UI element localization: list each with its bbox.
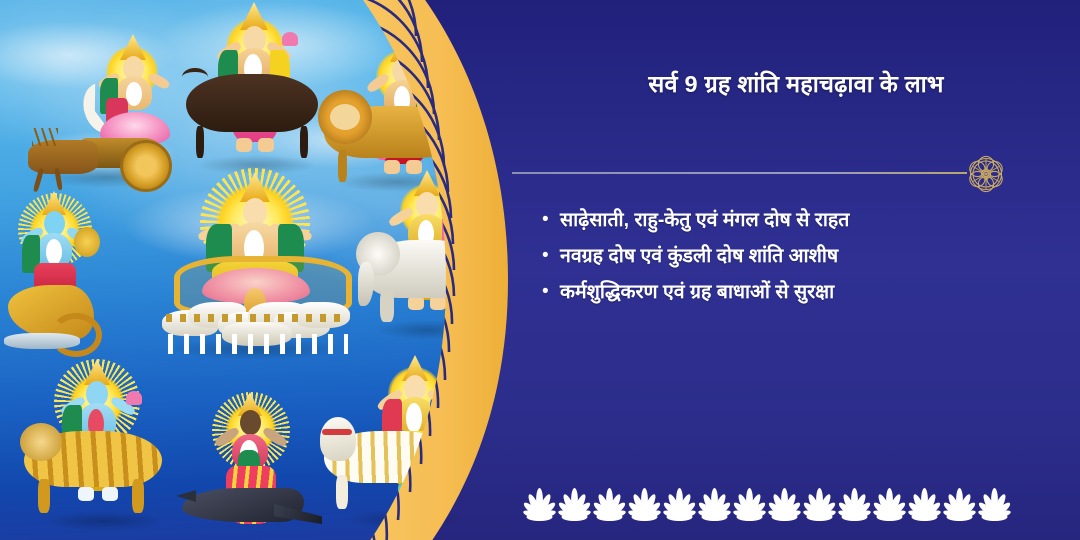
lotus-motif-icon [522,487,557,521]
figure-shadow [376,320,480,340]
deity-shukra-venus-on-horse [320,355,480,530]
deity-foot [398,483,414,497]
elephant-trunk [358,262,374,306]
benefit-text: साढ़ेसाती, राहु-केतु एवं मंगल दोष से राह… [560,205,849,235]
list-item: • नवग्रह दोष एवं कुंडली दोष शांति आशीष [542,241,1062,271]
tiger-head [20,423,62,461]
deity-face-dark [240,410,261,435]
figure-shadow [42,511,166,531]
benefits-list: • साढ़ेसाती, राहु-केतु एवं मंगल दोष से र… [542,205,1062,313]
lotus-motif-icon [872,487,907,521]
page-title: सर्व 9 ग्रह शांति महाचढ़ावा के लाभ [536,70,1056,99]
lotus-motif-icon [732,487,767,521]
bullet-dot-icon: • [542,205,560,235]
bullet-dot-icon: • [542,241,560,271]
garland [406,403,422,433]
list-item: • कर्मशुद्धिकरण एवं ग्रह बाधाओं से सुरक्… [542,277,1062,307]
lotus-motif-icon [557,487,592,521]
horse-leg [428,475,440,509]
poster-canvas: सर्व 9 ग्रह शांति महाचढ़ावा के लाभ [0,0,1080,540]
seven-horse-team [162,300,352,352]
lotus-motif-icon [802,487,837,521]
lotus-motif-icon [627,487,662,521]
elephant-leg [456,290,470,322]
deity-foot [430,296,446,310]
lotus-held-icon [282,32,298,46]
garland [46,239,62,265]
rosette-mandala-ornament [962,150,1010,198]
deity-shani-saturn-on-buffalo [178,0,328,180]
lion-face [330,104,360,130]
deity-budha-mercury-on-tiger [20,355,180,530]
deity-foot [408,296,424,310]
deity-ketu-on-crow [176,392,326,540]
divider [512,152,1057,196]
figure-shadow [344,509,464,529]
content-panel: सर्व 9 ग्रह शांति महाचढ़ावा के लाभ [512,0,1080,540]
benefit-text: नवग्रह दोष एवं कुंडली दोष शांति आशीष [560,241,838,271]
benefit-text: कर्मशुद्धिकरण एवं ग्रह बाधाओं से सुरक्षा [560,277,834,307]
navagraha-artwork-panel [0,0,512,540]
lotus-motif-icon [907,487,942,521]
horse-legs [168,334,348,354]
lotus-motif-icon [942,487,977,521]
shield-icon [74,227,100,257]
deity-foot [258,138,274,152]
lotus-palmette-border [522,483,1014,521]
elephant-leg [380,290,394,322]
deity-rahu-on-makara [0,185,126,355]
deity-guru-jupiter-on-elephant [356,170,496,340]
buffalo-leg [196,126,204,158]
divider-line [512,172,967,174]
deity-foot [78,487,94,501]
lotus-motif-icon [977,487,1012,521]
lotus-motif-icon [767,487,802,521]
lotus-motif-icon [697,487,732,521]
tiger-leg [132,479,144,513]
garland [126,82,142,106]
makara-base-platform [4,333,80,349]
lotus-held-icon [126,391,142,405]
horse-bridle [322,429,352,435]
buffalo-horn-icon [182,68,208,86]
horse-leg [336,475,348,509]
lotus-motif-icon [837,487,872,521]
lotus-motif-icon [592,487,627,521]
deity-surya-sun-on-seven-horse-chariot [140,160,370,360]
lotus-motif-icon [662,487,697,521]
deity-foot [236,138,252,152]
bullet-dot-icon: • [542,277,560,307]
deity-foot [102,487,118,501]
list-item: • साढ़ेसाती, राहु-केतु एवं मंगल दोष से र… [542,205,1062,235]
horse-harness [166,314,348,322]
deer-antlers-icon [32,128,58,146]
buffalo-leg [300,126,308,158]
horse-head [320,417,356,461]
tiger-leg [38,479,50,513]
